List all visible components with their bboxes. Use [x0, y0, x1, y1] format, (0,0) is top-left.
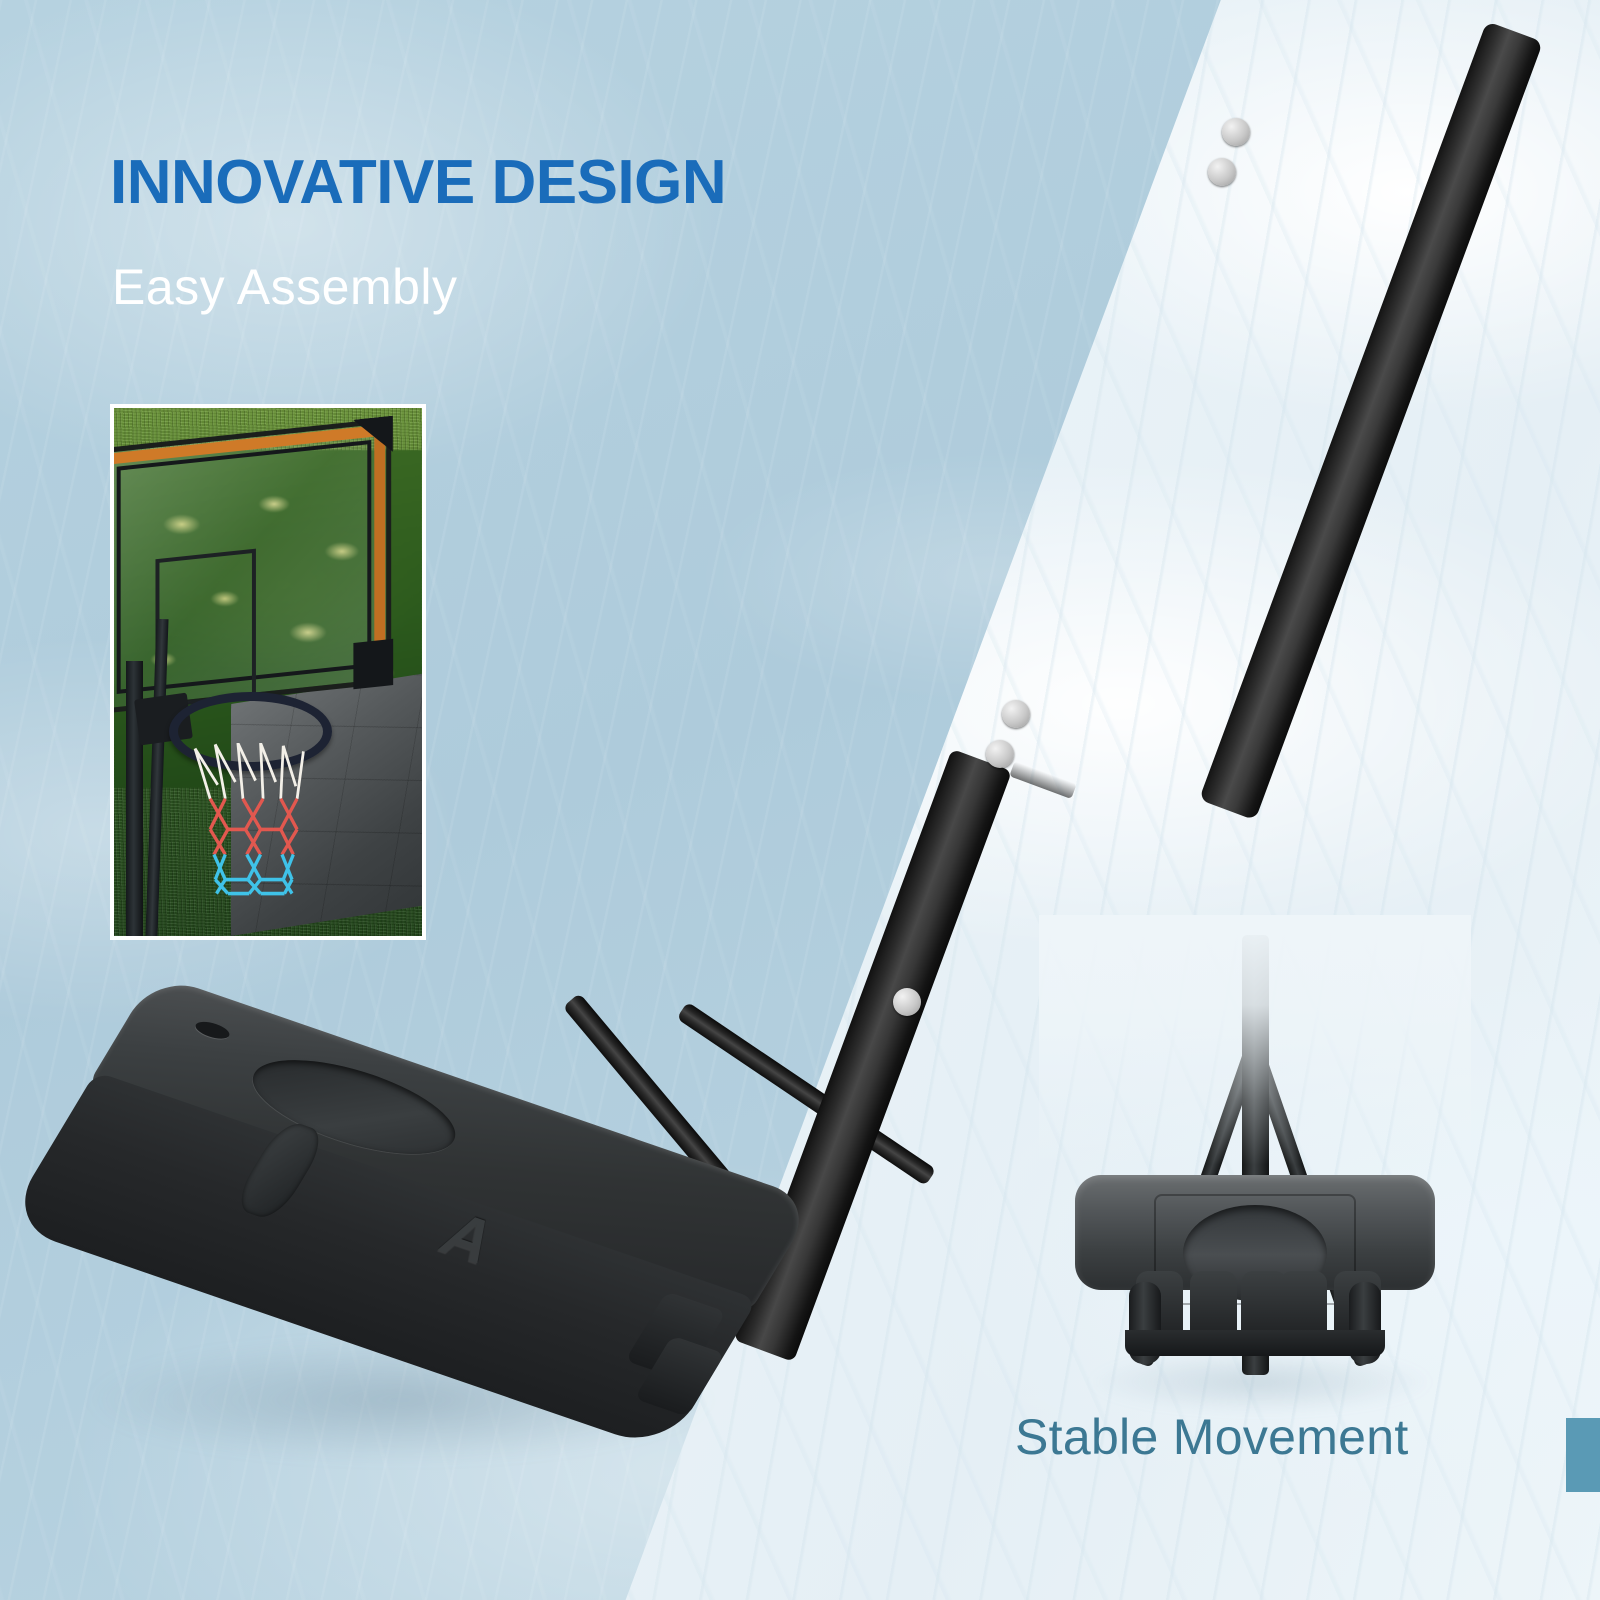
- banner-canvas: INNOVATIVE DESIGN Easy Assembly: [0, 0, 1600, 1600]
- page-title: INNOVATIVE DESIGN: [110, 152, 726, 214]
- accent-tab-right-edge: [1566, 1418, 1600, 1492]
- photo-rim-assembly: [157, 683, 360, 915]
- right-base-front-view: [1075, 1175, 1435, 1360]
- pole-bolt-mid-1: [1002, 700, 1030, 728]
- pole-bolt-top-2: [1208, 158, 1236, 186]
- basketball-net: [190, 743, 316, 896]
- subtitle: Easy Assembly: [112, 262, 458, 312]
- right-caption: Stable Movement: [1015, 1412, 1409, 1462]
- inset-photo-easy-assembly: [110, 404, 426, 940]
- right-base-bottom-rail: [1125, 1330, 1384, 1356]
- pole-bolt-mid-2: [986, 740, 1014, 768]
- brace-pivot-bolt: [893, 988, 921, 1016]
- pole-bolt-top-1: [1222, 118, 1250, 146]
- photo-backboard: [110, 418, 390, 714]
